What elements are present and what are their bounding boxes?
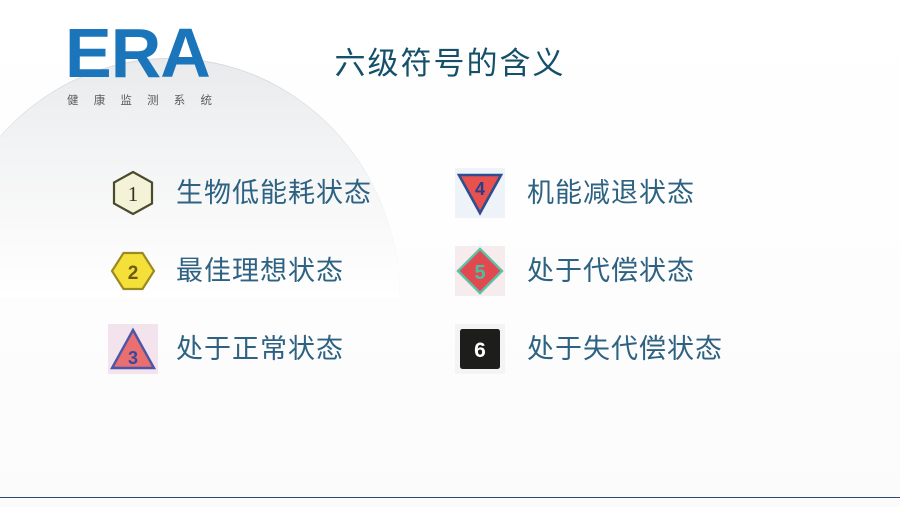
legend-item-1[interactable]: 1 生物低能耗状态 [108, 168, 372, 218]
triangle-up-level-3-icon: 3 [108, 324, 158, 374]
legend-item-3-label: 处于正常状态 [176, 334, 344, 364]
square-level-6-icon: 6 [455, 324, 505, 374]
legend-icon-number: 4 [475, 179, 485, 199]
legend-icon-number: 3 [128, 348, 138, 368]
hexagon-level-2-icon: 2 [108, 246, 158, 296]
legend-item-6[interactable]: 6 处于失代偿状态 [455, 324, 723, 374]
legend-item-4-label: 机能减退状态 [527, 178, 695, 208]
legend-item-6-label: 处于失代偿状态 [527, 334, 723, 364]
legend-column-right: 4 机能减退状态 5 处于代偿状态 [455, 168, 723, 402]
page-title: 六级符号的含义 [0, 38, 900, 83]
diamond-level-5-icon: 5 [455, 246, 505, 296]
legend-icon-number: 5 [474, 262, 485, 284]
legend-item-5-label: 处于代偿状态 [527, 256, 695, 286]
hexagon-level-1-icon: 1 [108, 168, 158, 218]
logo-subtitle: 健 康 监 测 系 统 [67, 92, 310, 108]
legend-container: 1 生物低能耗状态 2 最佳理想状态 [0, 168, 900, 408]
legend-icon-number: 6 [474, 339, 486, 362]
footer-divider [0, 497, 900, 498]
legend-item-2[interactable]: 2 最佳理想状态 [108, 246, 372, 296]
triangle-down-level-4-icon: 4 [455, 168, 505, 218]
legend-icon-number: 1 [128, 182, 139, 206]
legend-item-5[interactable]: 5 处于代偿状态 [455, 246, 723, 296]
legend-item-4[interactable]: 4 机能减退状态 [455, 168, 723, 218]
legend-column-left: 1 生物低能耗状态 2 最佳理想状态 [108, 168, 372, 402]
legend-item-3[interactable]: 3 处于正常状态 [108, 324, 372, 374]
slide-canvas: ERA 健 康 监 测 系 统 六级符号的含义 1 生物低能耗状态 [0, 0, 900, 507]
legend-item-2-label: 最佳理想状态 [176, 256, 344, 286]
legend-icon-number: 2 [128, 263, 139, 284]
legend-item-1-label: 生物低能耗状态 [176, 178, 372, 208]
